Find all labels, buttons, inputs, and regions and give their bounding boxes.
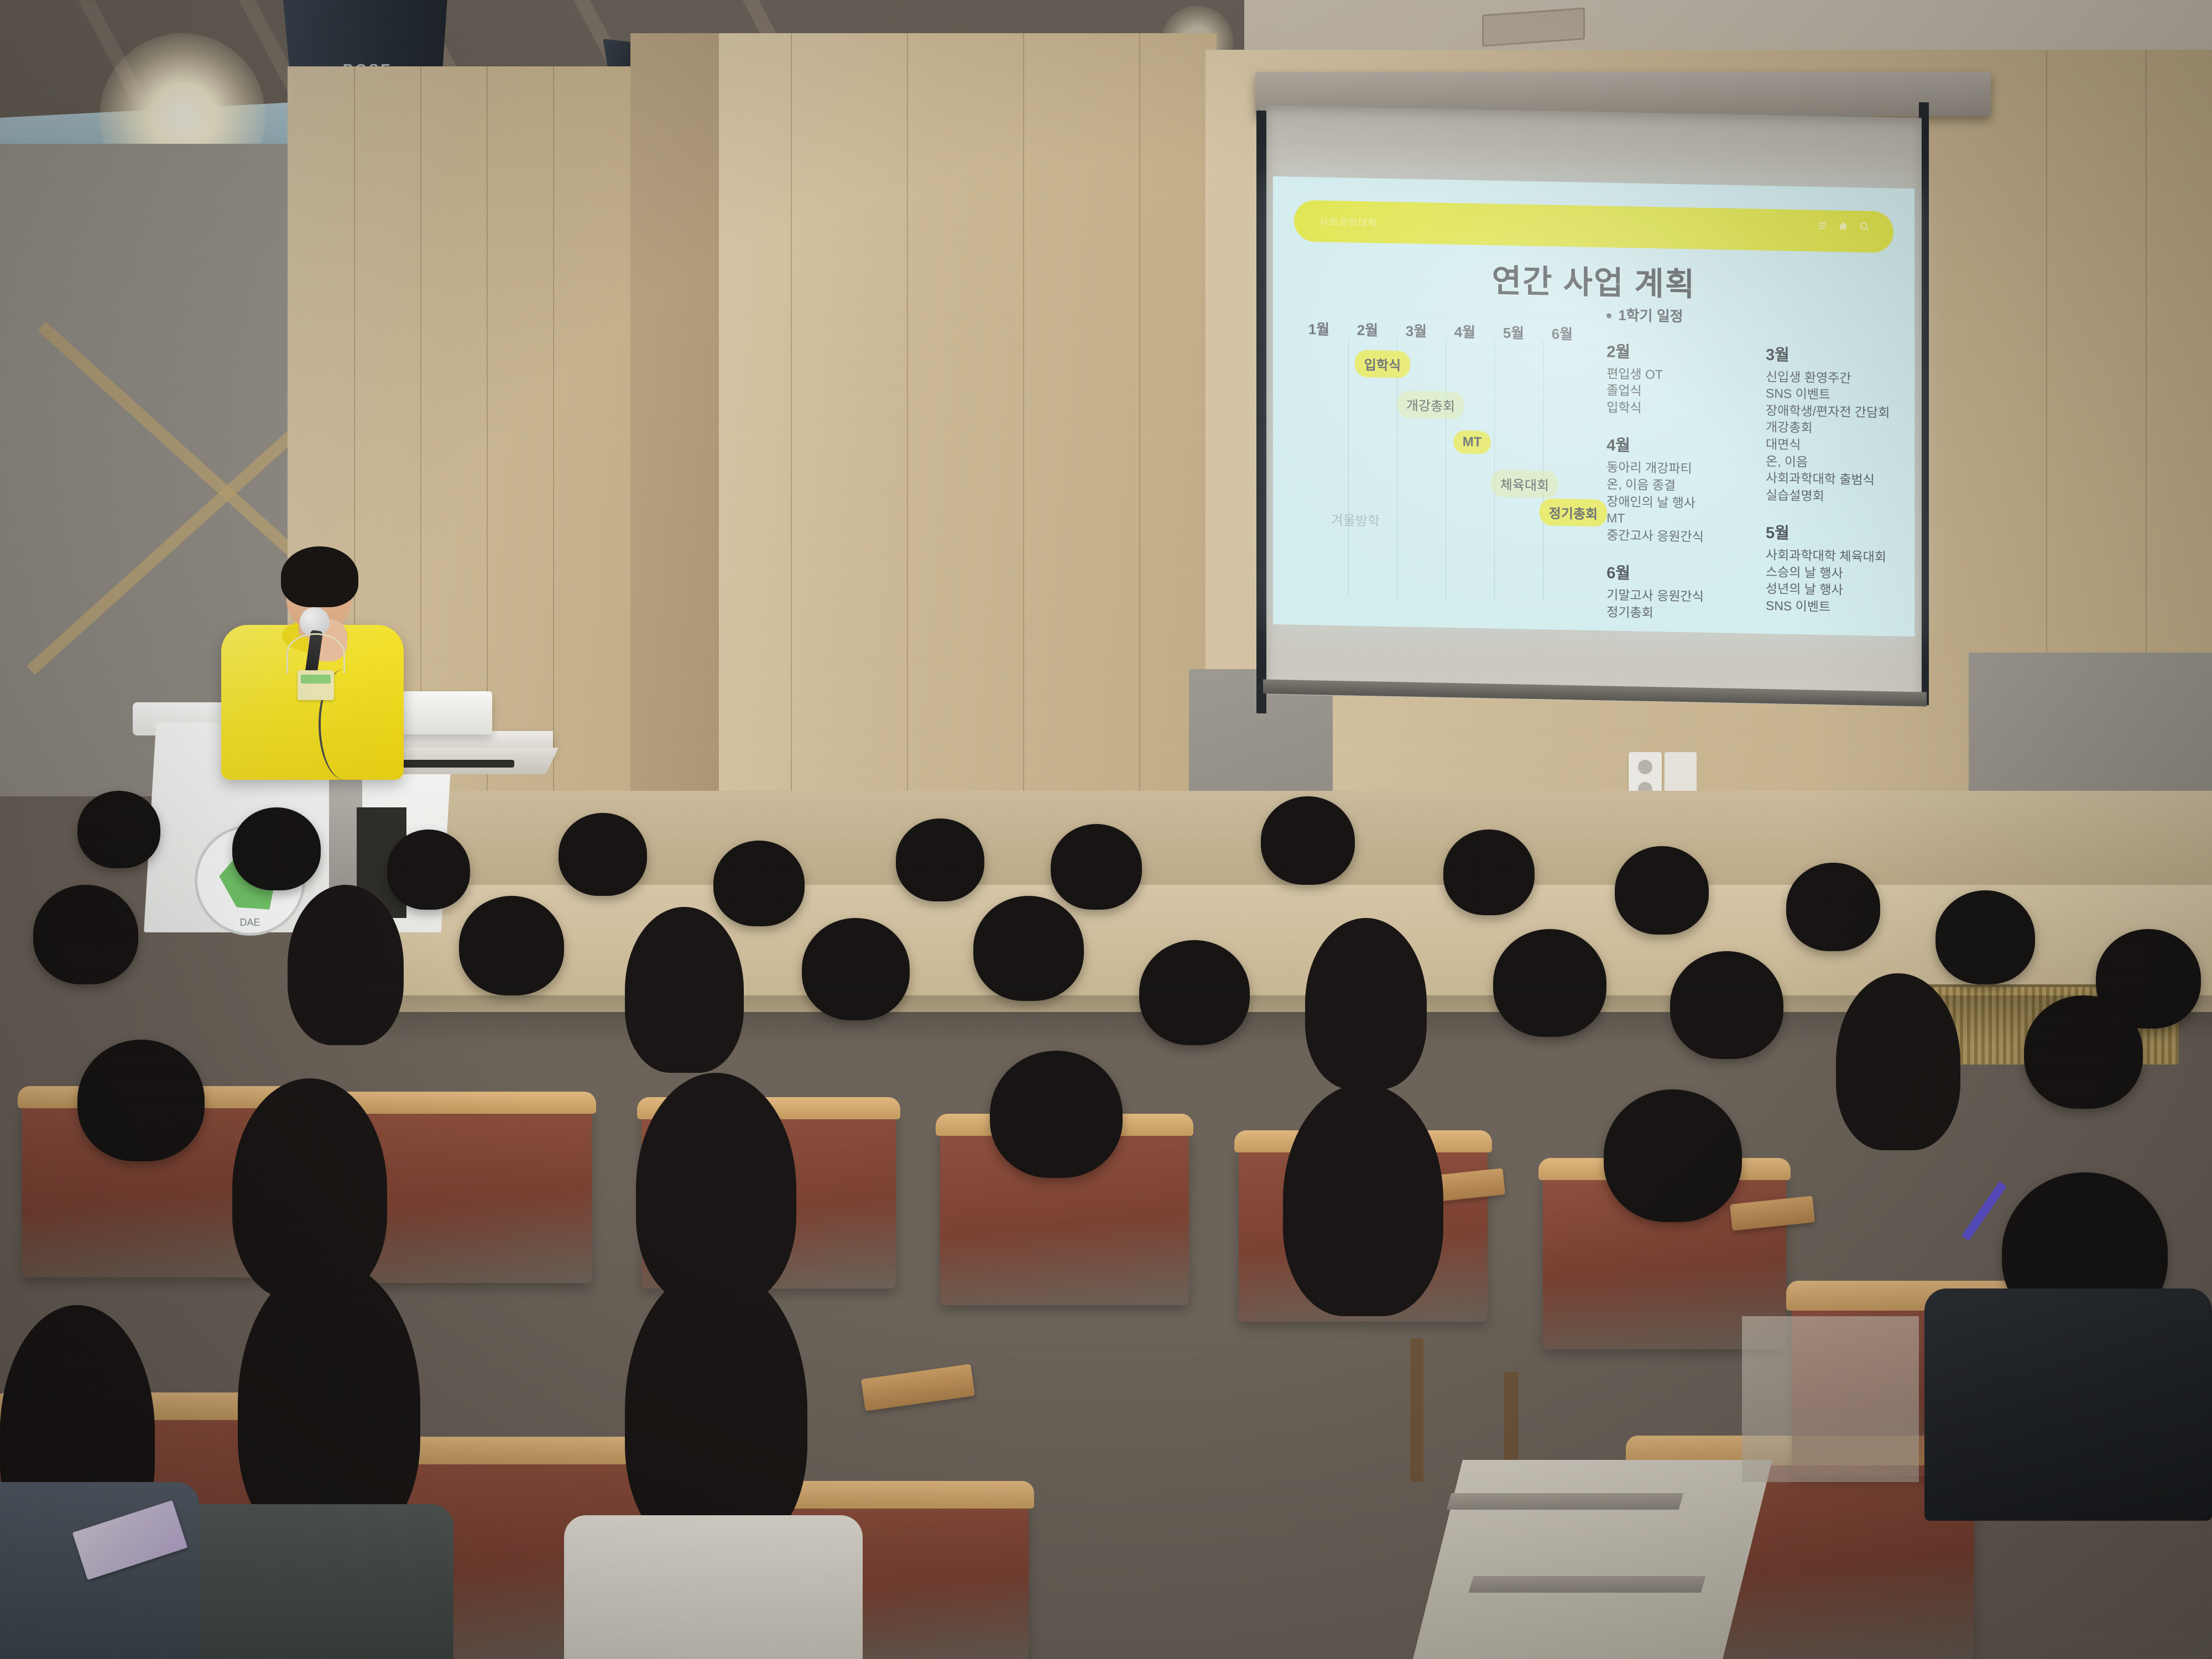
agenda-item: 동아리 개강파티 [1606, 459, 1743, 478]
pen[interactable] [1961, 1181, 2007, 1240]
audience-head [232, 807, 321, 890]
agenda-item: 기말고사 응원간식 [1606, 587, 1743, 606]
audience-head [802, 918, 910, 1020]
audience-head [1443, 830, 1535, 915]
agenda-item: MT [1606, 510, 1743, 529]
timeline-month-label: 2월 [1357, 319, 1378, 340]
audience-head [896, 818, 984, 901]
audience-head [1670, 951, 1783, 1059]
agenda-month-label: 6월 [1606, 560, 1743, 586]
projection-screen-assembly: 사회과학대학 연간 사업 계획 1월 2월 3월 4월 5월 6월 [1261, 77, 1991, 719]
wall-plank-seam [553, 66, 554, 852]
audience-head [2024, 995, 2143, 1109]
agenda-heading-text: 1학기 일정 [1618, 307, 1683, 325]
agenda-item: 중간고사 응원간식 [1606, 526, 1743, 546]
seat-tablet-arm[interactable] [861, 1364, 975, 1411]
name-badge [298, 670, 334, 700]
audience-body [166, 1504, 453, 1659]
timeline-month-label: 6월 [1552, 323, 1573, 344]
audience-hair [1283, 1084, 1443, 1316]
audience-head [559, 813, 647, 896]
audience-head [1615, 846, 1709, 935]
timeline-event-chip: 입학식 [1355, 350, 1410, 378]
audience-hair [288, 885, 404, 1045]
audience-head [973, 896, 1084, 1001]
audience-body [564, 1515, 863, 1659]
wall-plank-seam [1023, 33, 1024, 874]
aisle-floor [1413, 1460, 1772, 1659]
audience-head [1139, 940, 1250, 1045]
agenda-item: 사회과학대학 체육대회 [1766, 546, 1902, 566]
timeline-month-axis: 1월 2월 3월 4월 5월 6월 [1308, 318, 1597, 342]
agenda-month-label: 2월 [1606, 338, 1743, 364]
slide-brand-bar: 사회과학대학 [1294, 200, 1893, 253]
presenter [216, 542, 448, 774]
audience-head [1604, 1089, 1742, 1222]
audience-body [1924, 1288, 2212, 1521]
audience-hair [1305, 918, 1427, 1089]
agenda-month-block: 3월 신입생 환영주간 SNS 이벤트 장애학생/편자전 간담회 개강총회 대면… [1766, 342, 1902, 506]
audience-head [33, 885, 138, 984]
agenda-column-right: 3월 신입생 환영주간 SNS 이벤트 장애학생/편자전 간담회 개강총회 대면… [1766, 342, 1902, 637]
agenda-column-left: 2월 편입생 OT 졸업식 입학식 4월 동아리 개강파티 온, 이음 종결 장… [1606, 338, 1743, 637]
home-icon[interactable] [1838, 221, 1848, 231]
projected-slide: 사회과학대학 연간 사업 계획 1월 2월 3월 4월 5월 6월 [1273, 176, 1914, 637]
audience-head [77, 791, 160, 868]
agenda-item: 온, 이음 [1766, 453, 1902, 472]
agenda-item: 장애인의 날 행사 [1606, 493, 1743, 512]
audience-hair [1836, 973, 1960, 1150]
agenda-item: 개강총회 [1766, 419, 1902, 438]
agenda-item: 편입생 OT [1606, 365, 1743, 384]
timeline-background-label: 겨울방학 [1322, 505, 1389, 534]
agenda-item: 사회과학대학 출범식 [1766, 469, 1902, 489]
wall-plank-seam [907, 33, 908, 874]
agenda-item: 실습설명회 [1766, 487, 1902, 506]
menu-icon[interactable] [1817, 221, 1827, 231]
screen-side-rail [1256, 111, 1266, 713]
timeline-month-label: 1월 [1308, 318, 1329, 339]
agenda-month-block: 5월 사회과학대학 체육대회 스승의 날 행사 성년의 날 행사 SNS 이벤트 [1766, 520, 1902, 617]
audience-hair [625, 907, 744, 1073]
agenda-item: 신입생 환영주간 [1766, 368, 1902, 388]
slide-brand-label: 사회과학대학 [1319, 215, 1378, 229]
timeline-event-chip: 개강총회 [1397, 390, 1464, 419]
bullet-icon [1606, 314, 1611, 319]
badge-accent [301, 675, 331, 684]
agenda-item: 장애학생/편자전 간담회 [1766, 402, 1902, 421]
audience-head [459, 896, 564, 995]
agenda-item: 입학식 [1606, 399, 1743, 418]
agenda-month-block: 2월 편입생 OT 졸업식 입학식 [1606, 338, 1743, 418]
agenda-item: 졸업식 [1606, 382, 1743, 401]
timeline-month-label: 4월 [1454, 321, 1475, 342]
slide-title: 연간 사업 계획 [1273, 251, 1914, 309]
floor [1742, 1316, 1919, 1482]
seat-support-frame [1410, 1338, 1423, 1482]
agenda-month-label: 3월 [1766, 342, 1902, 368]
agenda-item: 대면식 [1766, 436, 1902, 455]
audience-head [1786, 863, 1880, 951]
timeline-event-chip: 정기총회 [1540, 498, 1607, 526]
agenda-item: 스승의 날 행사 [1766, 564, 1902, 583]
audience-head [77, 1040, 205, 1161]
audience-head [1936, 890, 2035, 984]
agenda-month-label: 5월 [1766, 520, 1902, 546]
slide-nav-icons [1817, 221, 1869, 232]
presenter-bangs [285, 555, 354, 584]
wood-wall-column [630, 33, 724, 863]
agenda-item: 정기총회 [1606, 603, 1743, 623]
timeline-event-chip: 체육대회 [1491, 470, 1558, 498]
audience-head [1493, 929, 1606, 1037]
wood-wall-center [719, 33, 1217, 874]
audience-head [713, 841, 805, 926]
timeline-event-chip: MT [1453, 430, 1491, 454]
lanyard-strap [286, 633, 345, 674]
wall-plank-seam [1139, 33, 1140, 874]
wall-plank-seam [791, 33, 792, 874]
agenda-item: SNS 이벤트 [1766, 385, 1902, 404]
aisle-step [1469, 1576, 1706, 1593]
search-icon[interactable] [1859, 222, 1869, 232]
audience-head [1261, 796, 1355, 885]
agenda-item: 온, 이음 종결 [1606, 476, 1743, 495]
audience-hair [625, 1266, 807, 1554]
audience-head [990, 1051, 1123, 1178]
audience-head [1051, 824, 1142, 910]
auditorium-photo: BOSE 사회과학대학 [0, 0, 2212, 1659]
agenda-item: 성년의 날 행사 [1766, 580, 1902, 599]
agenda-month-block: 6월 기말고사 응원간식 정기총회 [1606, 560, 1743, 623]
agenda-item: SNS 이벤트 [1766, 597, 1902, 617]
aisle-step [1447, 1493, 1684, 1510]
slide-agenda: 1학기 일정 2월 편입생 OT 졸업식 입학식 4월 동아리 개강파티 [1606, 304, 1902, 614]
slide-timeline: 1월 2월 3월 4월 5월 6월 겨울방학 입학식 개강총회 MT 체육대회 … [1308, 318, 1597, 601]
audience-head [387, 830, 470, 910]
agenda-month-label: 4월 [1606, 432, 1743, 458]
timeline-month-label: 5월 [1503, 322, 1524, 343]
timeline-month-label: 3월 [1406, 320, 1427, 341]
agenda-month-block: 4월 동아리 개강파티 온, 이음 종결 장애인의 날 행사 MT 중간고사 응… [1606, 432, 1743, 546]
